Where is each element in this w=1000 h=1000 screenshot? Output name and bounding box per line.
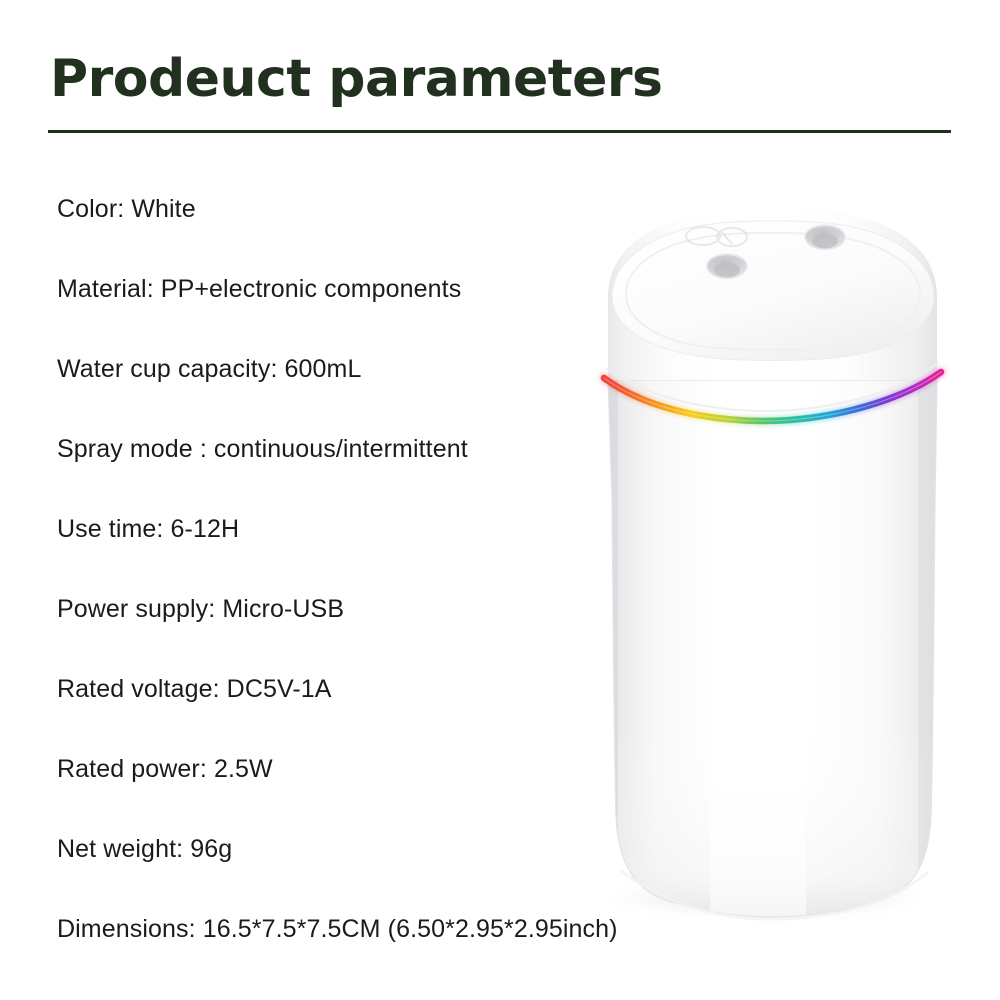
cap-top-face (612, 221, 934, 361)
title-divider (48, 130, 951, 133)
product-spec-page: Prodeuct parameters Color: White Materia… (0, 0, 1000, 1000)
product-image-humidifier (560, 180, 1000, 940)
page-title: Prodeuct parameters (50, 52, 663, 107)
mist-nozzle-front-icon (707, 254, 747, 279)
humidifier-body (600, 370, 946, 935)
mist-nozzle-rear-icon (805, 225, 845, 250)
